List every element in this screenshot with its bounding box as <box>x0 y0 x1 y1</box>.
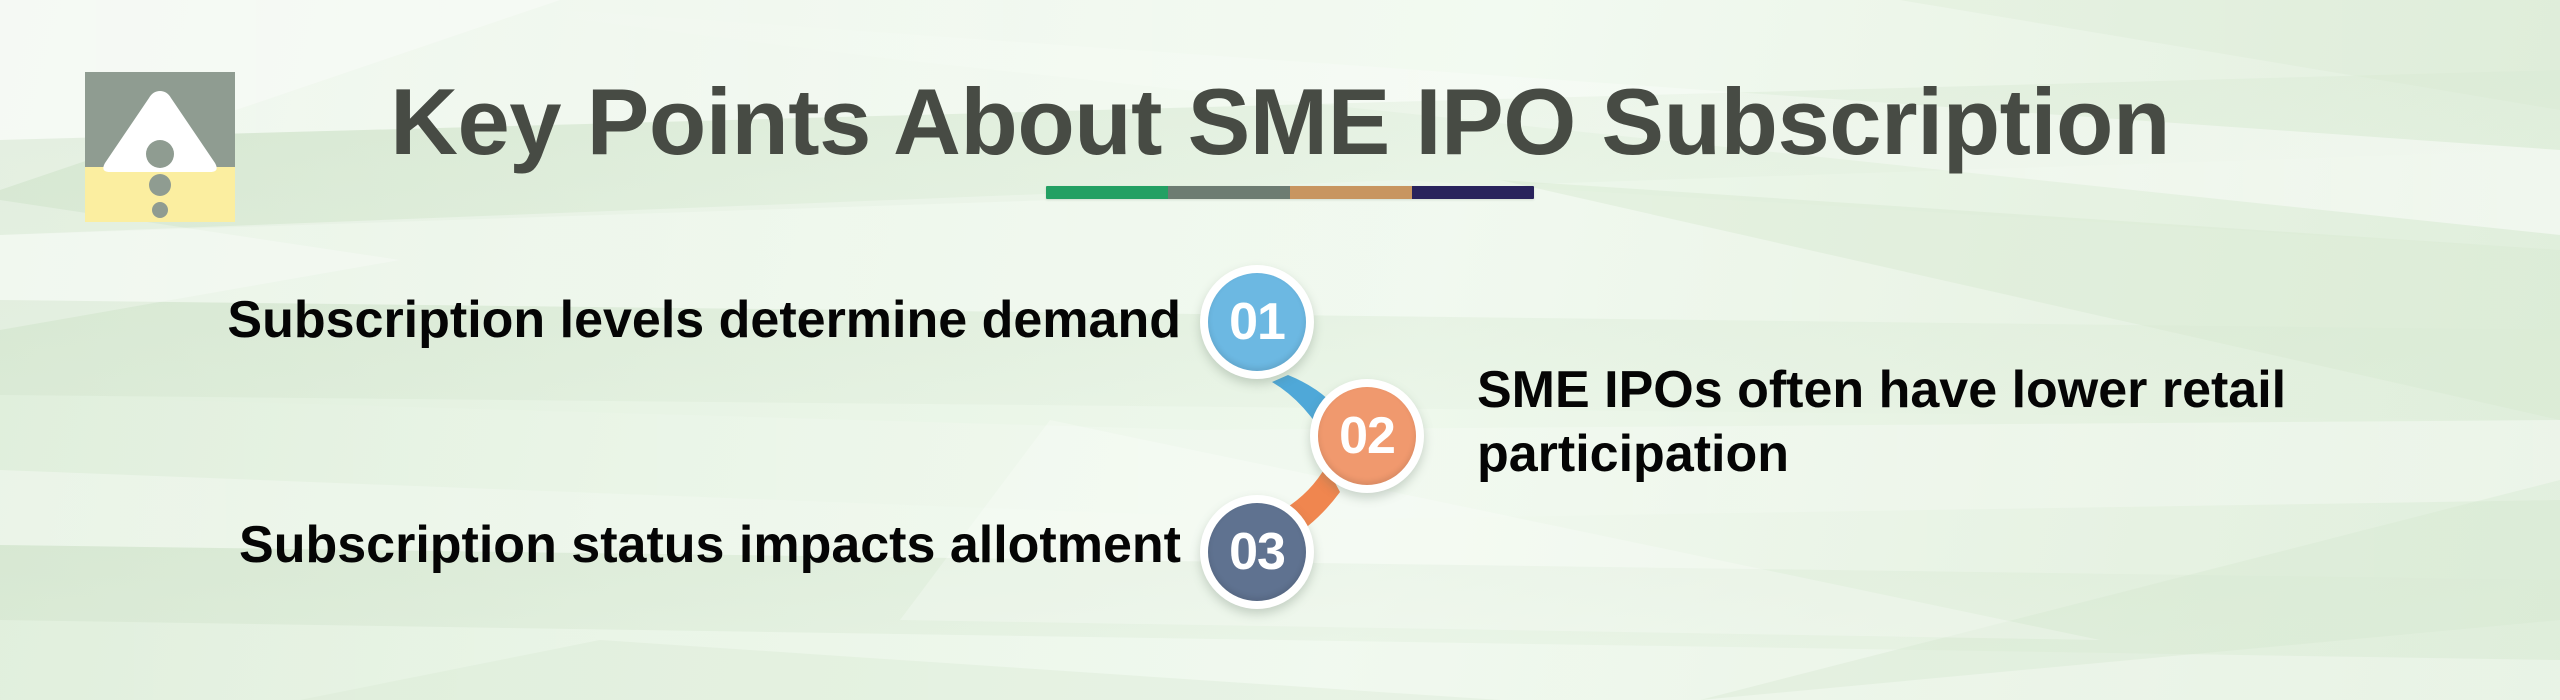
step-number-01: 01 <box>1208 273 1306 371</box>
slide-canvas: Key Points About SME IPO Subscription 01… <box>0 0 2560 700</box>
step-number-02: 02 <box>1318 387 1416 485</box>
step-label-01: Subscription levels determine demand <box>181 288 1181 352</box>
step-number-03: 03 <box>1208 503 1306 601</box>
step-circle-02[interactable]: 02 <box>1310 379 1424 493</box>
step-circle-03[interactable]: 03 <box>1200 495 1314 609</box>
step-label-02: SME IPOs often have lower retail partici… <box>1477 358 2377 486</box>
step-circle-01[interactable]: 01 <box>1200 265 1314 379</box>
step-label-03: Subscription status impacts allotment <box>181 513 1181 577</box>
